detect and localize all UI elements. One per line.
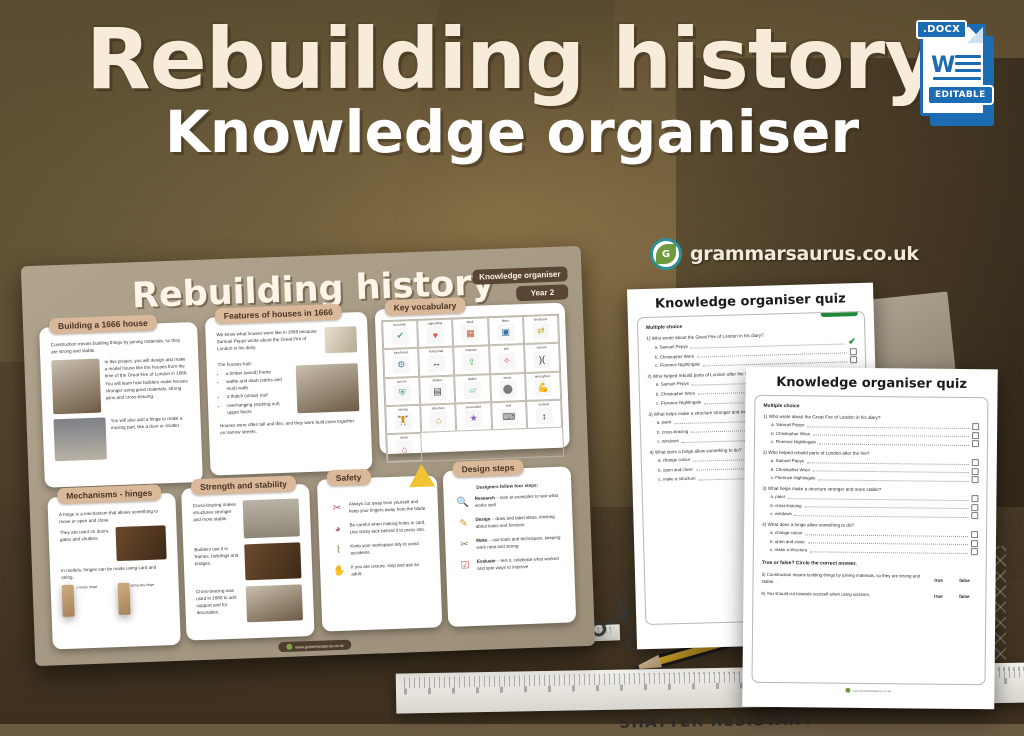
card-mechanisms-hinges[interactable]: Mechanisms - hinges A hinge is a mechani… [47,493,180,650]
quiz-answer-checkbox[interactable] [850,348,857,355]
design-step-label: Make [476,538,487,543]
brand-logo-block: G grammarsaurus.co.uk [650,238,919,270]
quiz-option-label: a. Samuel Pepys [656,381,689,387]
quiz-option[interactable]: c. make a structure [770,546,978,555]
design-step-text: Design – draw and label ideas, thinking … [475,513,561,531]
quiz-option-label: a. Samuel Pepys [771,458,804,463]
card-paragraph-2: In this project, you will design and mak… [104,356,189,413]
poster-footer-text: www.grammarsaurus.co.uk [295,642,343,649]
safety-item: ✋ If you are unsure, stop and ask an adu… [331,561,430,581]
magnifier-icon: 🔍 [455,495,472,512]
card-paragraph-1: A hinge is a mechanism that allows somet… [59,507,165,525]
scissors-icon: ✂ [329,501,346,518]
quiz-option-label: c. windows [657,438,679,444]
design-step: 🔍 Research – look at examples to see wha… [455,492,562,512]
quiz-answer-checkbox[interactable] [972,459,979,466]
photo-timber-building [246,584,303,622]
vocabulary-diary-icon: ▣ [497,324,515,342]
quiz-question-text: 4) What does a hinge allow something to … [762,522,978,529]
pencil-ruler-icon: ✎ [455,516,472,533]
quiz-option[interactable]: c. windows [770,510,978,519]
quiz-option-label: c. Florence Nightingale [655,361,700,367]
photo-bridge [244,542,301,580]
leader-dots [813,431,969,437]
vocabulary-shutter-icon: ▤ [429,383,447,401]
vocabulary-label: successful [458,405,489,409]
vocabulary-horizontal-icon: ↔ [428,355,446,373]
design-intro: Designers follow four steps: [454,481,560,492]
design-step-text: Evaluate – test it, celebrate what worke… [477,555,563,573]
vocabulary-cell: brick▦ [452,317,488,347]
card-heading: Design steps [452,459,523,478]
raised-hand-icon: ✋ [331,564,348,581]
grammarsaurus-dot-icon [286,644,292,650]
card-paragraph-1: We know what houses were like in 1666 be… [216,327,320,357]
vocabulary-label: strong [387,408,418,412]
quiz-false-option[interactable]: false [951,594,977,599]
vocabulary-cell: accurate✔ [382,320,418,350]
vocabulary-cell: feedback⇄ [523,315,559,345]
quiz-option[interactable]: c. Florence Nightingale [771,474,979,483]
vocabulary-cell: stone⬤ [490,373,526,403]
logo-letter: G [656,244,676,264]
card-paragraph-1: Cross-bracing makes structures stronger … [193,501,240,541]
editable-label: EDITABLE [927,85,994,105]
quiz-false-option[interactable]: false [952,578,978,583]
quiz-answer-checkbox[interactable] [971,531,978,538]
safety-text: If you are unsure, stop and ask an adult… [351,561,429,578]
quiz-answer-checkbox[interactable] [850,356,857,363]
quiz-tf-question: 6) You should cut towards yourself when … [761,591,925,599]
vocabulary-cell: diary▣ [488,316,524,346]
vocabulary-cell: narrow)( [524,343,560,373]
quiz-option[interactable]: a. Samuel Pepys [771,457,979,466]
quiz-tf-question: 5) Construction means building things by… [762,572,926,587]
quiz-answer-checkbox[interactable] [972,440,979,447]
checklist-icon: ☑ [457,558,474,575]
quiz-answer-checkbox[interactable] [971,512,978,519]
card-key-vocabulary[interactable]: Key vocabulary accurate✔appealing♥brick▦… [375,302,570,454]
leader-dots [805,503,969,509]
leader-dots [819,476,969,482]
vocabulary-label: brick [455,320,486,324]
quiz-questions-list: 1) Who wrote about the Great Fire of Lon… [762,414,979,555]
photo-cross-bracing-frame [243,498,300,538]
page-title: Rebuilding history [0,18,1024,100]
vocabulary-label: feedback [525,318,556,322]
quiz-answer-checkbox[interactable] [972,476,979,483]
quiz-answer-checkbox[interactable] [972,468,979,475]
vocabulary-label: horizontal [420,350,451,354]
vocabulary-cell: strengthen💪 [525,371,561,401]
quiz-true-option[interactable]: true [925,594,951,599]
vocabulary-label: accurate [384,323,415,327]
vocabulary-label: stone [492,376,523,380]
quiz-option-label: b. Christopher Wren [771,466,810,471]
list-item: wattle and daub (sticks and mud) walls [226,376,291,393]
answers-badge: answers [821,311,858,317]
card-body: Construction means building things by jo… [45,328,196,465]
safety-item: ◕ Be careful when making holes in card. … [329,519,428,539]
vocabulary-label: appealing [419,322,450,326]
card-body: Cross-bracing makes structures stronger … [187,490,308,628]
quiz-true-option[interactable]: true [926,578,952,583]
vocabulary-functional-icon: ⚙ [393,356,411,374]
vocabulary-cell: test⌨ [491,401,527,431]
design-step: ✎ Design – draw and label ideas, thinkin… [455,513,562,533]
vocabulary-brick-icon: ▦ [462,325,480,343]
poster-year-badge: Year 2 [516,284,568,301]
grammarsaurus-dot-icon [846,688,851,693]
vocabulary-cell: stable▱ [455,374,491,404]
quiz-answer-checkbox[interactable] [972,423,979,430]
quiz-true-false-row[interactable]: 5) Construction means building things by… [762,572,978,587]
design-step-label: Evaluate [477,558,496,564]
card-features-of-houses[interactable]: Features of houses in 1666 We know what … [205,312,373,476]
list-item: overhanging (sticking out) upper floors [227,399,292,416]
vocabulary-strong-icon: 🏋 [395,412,413,430]
safety-item: ⌇ Keep your workspace tidy to avoid acci… [330,540,429,560]
vocabulary-successful-icon: ★ [465,410,483,428]
quiz-option-label: b. Christopher Wren [655,353,694,359]
page-fold-inner-icon [967,27,983,43]
vocabulary-cell: appealing♥ [417,319,453,349]
quiz-answer-checkbox[interactable] [971,495,978,502]
card-heading: Key vocabulary [384,297,465,316]
quiz-option-label: c. Florence Nightingale [771,439,816,444]
vocabulary-label: secure [386,380,417,384]
vocabulary-label: diary [490,319,521,323]
quiz-option-label: a. Samuel Pepys [771,422,804,427]
vocabulary-cell: secure⛨ [384,376,420,406]
vocabulary-label: shutter [421,378,452,382]
safety-text: Always cut away from yourself and keep y… [349,498,427,515]
page-subtitle: Knowledge organiser [0,102,1024,163]
card-design-steps[interactable]: Design steps Designers follow four steps… [443,466,577,627]
quiz-option-label: a. Samuel Pepys [655,344,688,350]
quiz-answer-checkbox[interactable] [971,504,978,511]
vocabulary-label: strengthen [527,374,558,378]
knowledge-organiser-poster[interactable]: Rebuilding history Knowledge organiser Y… [21,246,595,666]
quiz-answer-checkbox[interactable] [972,432,979,439]
vocabulary-label: improve [456,349,487,353]
card-building-1666-house[interactable]: Building a 1666 house Construction means… [39,322,203,488]
vocabulary-label: functional [385,351,416,355]
quiz-option-label: b. open and close [658,466,693,472]
card-paragraph-3: In models, hinges can be made using card… [61,563,167,581]
vocabulary-label: vertical [528,403,559,407]
doc-lines-icon [955,55,981,76]
quiz-content-box: Multiple choice 1) Who wrote about the G… [751,395,988,685]
poster-type-badge: Knowledge organiser [472,266,568,284]
vocabulary-label: join [491,347,522,351]
leader-dots [807,459,969,465]
quiz-answer-checkbox[interactable] [971,548,978,555]
docx-editable-badge: W EDITABLE .DOCX [920,24,1000,134]
vocabulary-label: test [493,404,524,408]
card-paragraph-2: They are used on doors, gates and shutte… [60,527,113,563]
title-block: Rebuilding history Knowledge organiser [0,18,1024,163]
card-heading: Safety [327,469,371,487]
vocabulary-join-icon: ✧ [498,352,516,370]
hole-punch-icon: ◕ [329,522,346,539]
vocabulary-cell: weak⌂ [386,433,422,463]
photo-string-ties-hinge [117,583,130,615]
card-body: We know what houses were like in 1666 be… [211,318,365,440]
vocabulary-improve-icon: ⇪ [463,353,481,371]
leader-dots [808,539,968,545]
quiz-option[interactable]: b. Christopher Wren [771,465,979,474]
quiz-option-label: c. Florence Nightingale [656,399,701,405]
quiz-option[interactable]: b. open and close [770,537,978,546]
vocabulary-appealing-icon: ♥ [427,326,445,344]
quiz-question-text: 2) Who helped rebuild parts of London af… [763,450,979,457]
design-step-label: Research [475,495,495,501]
broom-icon: ⌇ [330,543,347,560]
vocabulary-cell: strong🏋 [385,405,421,435]
vocabulary-vertical-icon: ↕ [535,407,553,425]
card-paragraph-3: Houses were often tall and thin, and the… [220,417,360,436]
vocabulary-label: narrow [526,346,557,350]
card-safety[interactable]: Safety ✂ Always cut away from yourself a… [317,475,442,631]
card-body: Designers follow four steps: 🔍 Research … [449,473,569,584]
quiz-answer-checkbox[interactable] [971,540,978,547]
vocabulary-cell: improve⇪ [453,346,489,376]
design-step: ✂ Make – use tools and techniques, keepi… [456,534,563,554]
card-body: A hinge is a mechanism that allows somet… [54,499,173,596]
vocabulary-accurate-icon: ✔ [391,328,409,346]
vocabulary-narrow-icon: )( [533,351,551,369]
quiz-question-text: 3) What helps make a structure stronger … [762,486,978,493]
quiz-option[interactable]: b. Christopher Wren [771,429,979,438]
quiz-option[interactable]: b. cross-bracing [770,501,978,510]
card-body: ✂ Always cut away from yourself and keep… [323,482,435,590]
quiz-option[interactable]: a. Samuel Pepys [771,421,979,430]
quiz-option-label: b. open and close [770,538,805,543]
leader-dots [805,531,968,537]
quiz-option-label: c. Florence Nightingale [771,475,816,480]
leader-dots [807,423,969,429]
quiz-option-label: a. change colour [770,530,803,535]
safety-text: Be careful when making holes in card. Us… [349,519,427,536]
leader-dots [810,548,968,554]
vocabulary-stable-icon: ▱ [464,382,482,400]
vocabulary-test-icon: ⌨ [500,408,518,426]
poster-footer: www.grammarsaurus.co.uk [278,640,352,653]
quiz-option-label: b. cross-bracing [770,502,801,507]
quiz-option-label: c. make a structure [770,547,807,552]
photo-door-hinge [115,525,166,561]
vocabulary-cell: vertical↕ [526,400,562,430]
photo-sky [53,418,107,462]
card-paragraph-3: Cross-bracing was used in 1666 to add su… [196,587,243,625]
quiz-question-text: 1) Who wrote about the Great Fire of Lon… [763,414,979,421]
vocabulary-label: stable [457,377,488,381]
photo-timber-house [296,363,360,413]
leader-dots [788,495,969,501]
vocabulary-strengthen-icon: 💪 [534,379,552,397]
quiz-option-label: b. Christopher Wren [771,430,810,435]
design-step-desc: – use tools and techniques, keeping work… [476,535,560,550]
quiz-footer-text: www.grammarsaurus.co.uk [853,688,891,692]
photo-l-brace-hinge [62,585,75,617]
card-paragraph-3: You will also add a hinge to make a movi… [110,415,190,460]
quiz-option[interactable]: c. Florence Nightingale [771,438,979,447]
quiz-section-heading-tf: True or false? Circle the correct answer… [762,560,978,568]
quiz-option-label: a. paint [770,494,784,499]
design-step: ☑ Evaluate – test it, celebrate what wor… [457,555,564,575]
warning-triangle-icon [408,463,435,487]
vocabulary-secure-icon: ⛨ [394,384,412,402]
docx-format-label: .DOCX [916,20,967,39]
leader-dots [819,440,969,446]
quiz-option-label: c. make a structure [658,476,695,482]
quiz-blank-sheet[interactable]: Knowledge organiser quiz Multiple choice… [742,367,998,710]
vocabulary-grid: accurate✔appealing♥brick▦diary▣feedback⇄… [381,314,564,464]
photo-diary [324,326,357,353]
vocabulary-label: weak [388,436,419,440]
vocabulary-cell: functional⚙ [383,348,419,378]
tools-icon: ✂ [456,537,473,554]
quiz-option[interactable]: a. change colour [770,529,978,538]
leader-dots [691,340,845,348]
design-step-label: Design [475,516,490,522]
safety-item: ✂ Always cut away from yourself and keep… [329,498,428,518]
leader-dots [703,358,847,366]
photo-model-house [51,359,101,415]
design-step-text: Make – use tools and techniques, keeping… [476,534,562,552]
checkmark-icon: ✔ [847,337,856,346]
vocabulary-structure-icon: ⌂ [430,411,448,429]
vocabulary-label: structure [422,407,453,411]
word-w-icon: W [931,53,955,78]
card-paragraph-2: Builders use it in frames, buildings and… [194,545,241,583]
quiz-section-heading: Multiple choice [763,403,979,411]
quiz-option-label: c. windows [770,511,792,516]
quiz-option-label: b. Christopher Wren [656,390,695,396]
quiz-option-label: a. change colour [658,457,691,463]
design-step-text: Research – look at examples to see what … [475,492,561,510]
quiz-section-heading: Multiple choice [646,319,856,331]
quiz-option-label: a. paint [657,419,672,424]
grammarsaurus-logo-icon: G [650,238,682,270]
vocabulary-cell: shutter▤ [419,375,455,405]
quiz-true-false-row[interactable]: 6) You should cut towards yourself when … [761,591,977,600]
quiz-title: Knowledge organiser quiz [745,367,997,398]
vocabulary-cell: structure⌂ [420,403,456,433]
vocabulary-cell: horizontal↔ [418,347,454,377]
quiz-true-false-list: 5) Construction means building things by… [761,572,977,600]
leader-dots [795,512,969,518]
features-bullet-list: a timber (wood) frame wattle and daub (s… [226,368,293,417]
vocabulary-cell: join✧ [489,344,525,374]
vocabulary-weak-icon: ⌂ [396,441,414,459]
vocabulary-stone-icon: ⬤ [499,380,517,398]
vocabulary-feedback-icon: ⇄ [532,322,550,340]
quiz-option[interactable]: a. paint [770,493,978,502]
brand-name: grammarsaurus.co.uk [690,243,919,265]
card-paragraph-1: Construction means building things by jo… [51,336,187,355]
quiz-option-label: b. cross-bracing [657,428,688,434]
leader-dots [813,467,969,473]
safety-text: Keep your workspace tidy to avoid accide… [350,540,428,557]
card-strength-and-stability[interactable]: Strength and stability Cross-bracing mak… [181,484,314,641]
vocabulary-cell: successful★ [456,402,492,432]
